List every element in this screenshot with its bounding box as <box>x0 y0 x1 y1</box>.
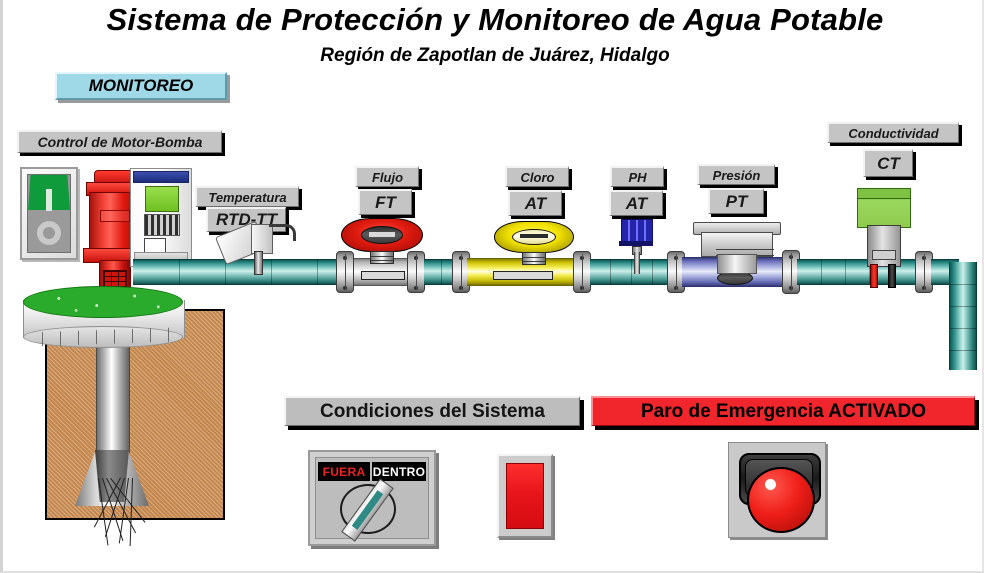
emergency-stop-button[interactable] <box>728 442 826 538</box>
vfd-control-panel[interactable] <box>130 168 192 267</box>
vfd-header-bar <box>133 171 189 183</box>
indicator-lamp-red <box>506 463 544 529</box>
page-title: Sistema de Protección y Monitoreo de Agu… <box>3 2 984 38</box>
pt-neck <box>717 254 757 274</box>
hmi-screen: Sistema de Protección y Monitoreo de Agu… <box>0 0 984 573</box>
rtd-temperature-sensor-icon <box>219 218 293 274</box>
ph-tag[interactable]: AT <box>609 190 663 216</box>
ct-window <box>872 250 896 260</box>
cloro-readout-bar <box>520 234 548 238</box>
monitoreo-button[interactable]: MONITOREO <box>55 72 227 100</box>
power-off-icon <box>37 221 61 245</box>
motor-nameplate <box>100 210 130 222</box>
flujo-tag[interactable]: FT <box>358 189 412 215</box>
presion-label: Presión <box>697 164 775 185</box>
motor-onoff-rocker-switch[interactable] <box>20 167 78 260</box>
mode-selector-switch[interactable]: FUERA DENTRO <box>308 450 436 546</box>
pipe-downcomer <box>949 262 977 370</box>
ct-body <box>867 225 901 267</box>
chlorine-analyzer-icon <box>494 221 576 265</box>
power-on-icon <box>46 189 52 211</box>
ph-probe-stem <box>634 252 640 274</box>
pressure-transmitter-icon <box>693 222 779 276</box>
cloro-process-neck <box>522 252 546 265</box>
temperatura-label: Temperatura <box>195 186 299 207</box>
ft-process-neck <box>370 251 394 264</box>
vfd-card-slot <box>144 238 166 253</box>
ct-housing <box>857 188 911 228</box>
presion-tag[interactable]: PT <box>708 188 764 214</box>
cloro-label: Cloro <box>505 166 569 187</box>
ph-analyzer-icon <box>619 219 653 275</box>
conductividad-tag[interactable]: CT <box>863 149 913 177</box>
page-subtitle: Región de Zapotlan de Juárez, Hidalgo <box>3 45 984 67</box>
rtd-cable-icon <box>269 224 296 241</box>
conductivity-sensor-icon <box>857 188 909 280</box>
vfd-keypad-icon[interactable] <box>144 214 180 236</box>
grass-surface <box>23 286 183 318</box>
rtd-stem <box>254 251 263 275</box>
ct-probe-black <box>888 264 896 288</box>
flow-transmitter-icon <box>341 218 427 264</box>
ph-label: PH <box>610 166 664 187</box>
estop-mushroom-head[interactable] <box>747 467 815 533</box>
ft-readout-bar <box>369 232 395 237</box>
ct-probe-red <box>870 264 878 288</box>
conductividad-label: Conductividad <box>827 122 959 143</box>
flujo-label: Flujo <box>355 166 419 187</box>
vfd-display <box>145 186 179 212</box>
selector-position-fuera[interactable]: FUERA <box>318 462 370 481</box>
system-conditions-banner[interactable]: Condiciones del Sistema <box>284 396 580 426</box>
estop-highlight <box>765 479 776 490</box>
status-indicator-lamp[interactable] <box>497 454 553 538</box>
cloro-tag[interactable]: AT <box>508 190 562 216</box>
rocker-inner <box>27 174 71 253</box>
emergency-stop-banner[interactable]: Paro de Emergencia ACTIVADO <box>591 396 975 426</box>
cloro-sight-bar <box>493 271 553 280</box>
motor-control-label: Control de Motor-Bomba <box>17 130 222 153</box>
ft-sight-bar <box>361 271 405 280</box>
